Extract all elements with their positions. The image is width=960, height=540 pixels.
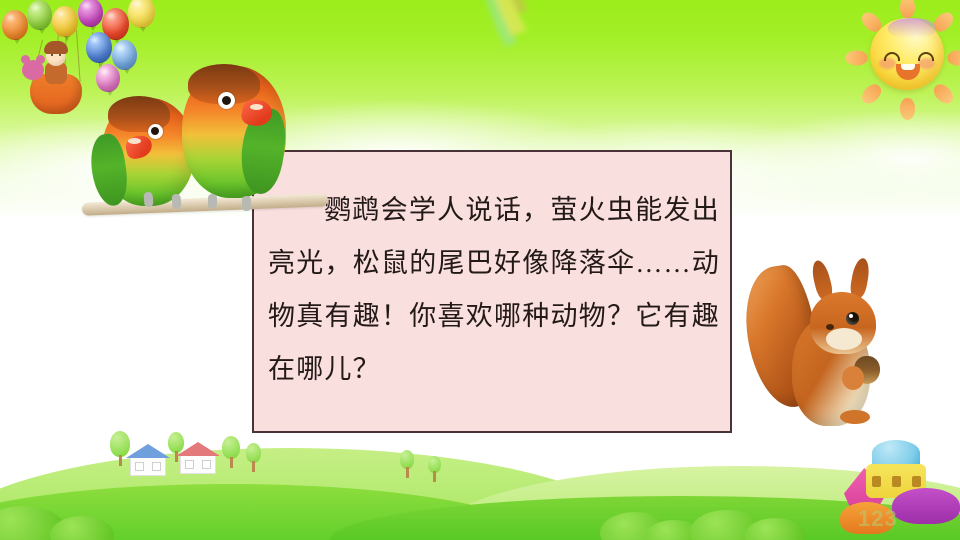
bird-foot <box>143 192 153 208</box>
village-house-red <box>176 442 220 474</box>
bird-foot <box>242 196 251 211</box>
teddy-bear <box>22 60 44 80</box>
balloon-purple <box>78 0 103 27</box>
balloon-yellow <box>52 6 78 37</box>
tree-icon <box>428 456 441 482</box>
sun-ray <box>858 81 884 107</box>
balloon-green <box>27 0 52 30</box>
squirrel-nose <box>826 324 834 330</box>
squirrel-muzzle <box>826 328 862 350</box>
bird-foot <box>208 194 217 209</box>
sun-eye <box>918 52 934 61</box>
village-house-blue <box>126 444 170 476</box>
lovebird-right <box>176 66 296 206</box>
sun-ray <box>930 81 956 107</box>
tree-icon <box>400 450 414 478</box>
lovebirds-pair <box>82 66 338 241</box>
sun-ray <box>900 0 915 18</box>
balloon-blue <box>86 32 112 63</box>
squirrel-paw <box>842 366 864 390</box>
sun-ray <box>948 51 960 66</box>
sun-eye <box>884 52 900 61</box>
red-squirrel <box>752 262 904 438</box>
child-hair <box>44 41 68 54</box>
castle-dome <box>872 440 920 466</box>
child-eye <box>59 54 61 56</box>
sun-ray <box>900 98 915 120</box>
slide-canvas: 123 鹦鹉会学人说话，萤火虫能发出亮光，松鼠的尾巴好像降落伞……动物真有趣！你… <box>0 0 960 540</box>
balloon-orange <box>2 10 28 40</box>
watermark: 123 <box>858 506 898 532</box>
smiling-sun <box>852 2 960 110</box>
squirrel-foot <box>840 410 870 424</box>
sun-highlight <box>888 18 936 38</box>
balloon-yellow-2 <box>128 0 155 28</box>
child-eye <box>51 54 53 56</box>
tree-icon <box>222 436 240 468</box>
squirrel-eye-highlight <box>849 314 853 318</box>
tree-icon <box>246 443 261 472</box>
sun-ray <box>846 51 868 66</box>
castle-purple-shape <box>892 488 960 524</box>
